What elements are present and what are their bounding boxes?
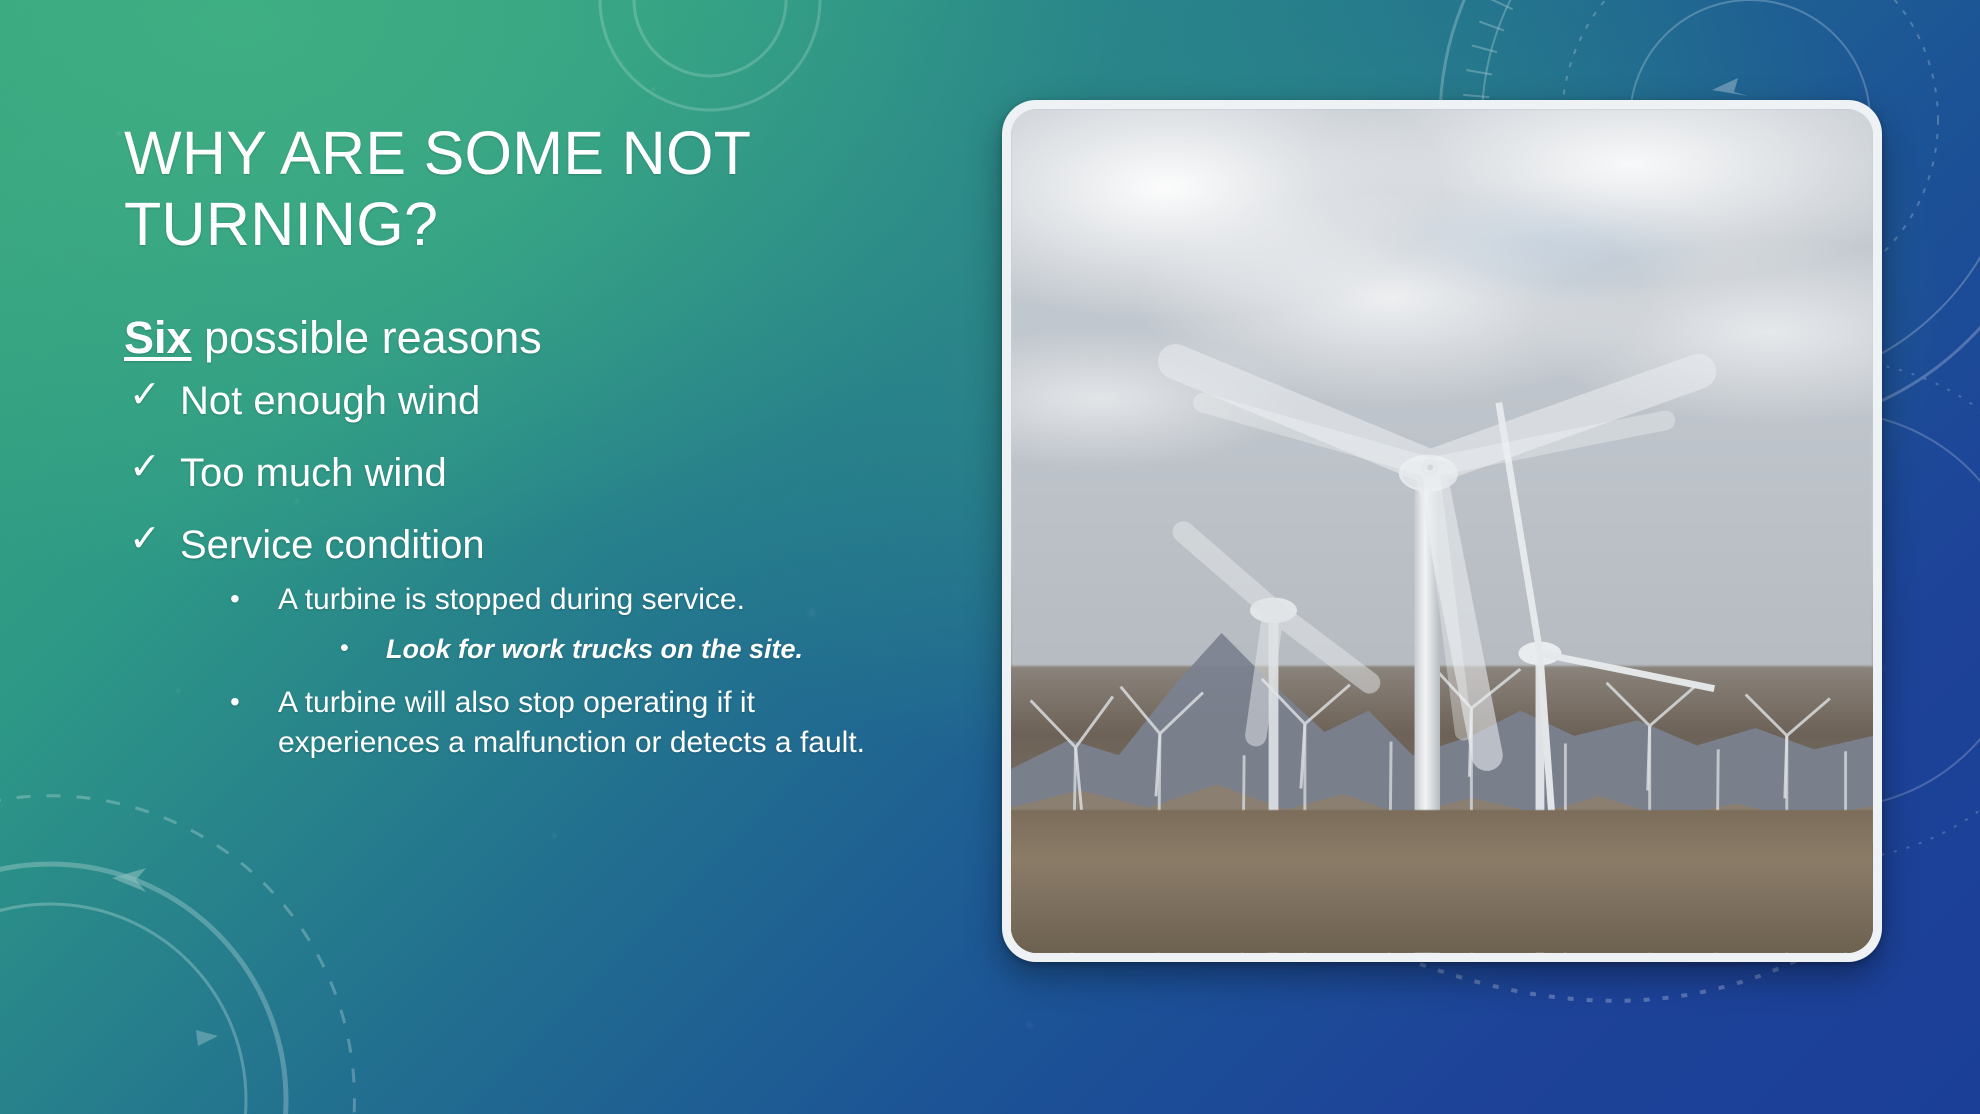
bullet-dot-icon: • [340, 632, 349, 665]
lead-emphasis: Six [124, 312, 192, 363]
compass-pointer-icon [1712, 78, 1748, 96]
nested-note-list: • Look for work trucks on the site. [278, 632, 894, 667]
list-item-not-enough-wind: ✓ Not enough wind [124, 380, 894, 422]
checkmark-icon: ✓ [129, 520, 161, 558]
list-item-too-much-wind: ✓ Too much wind [124, 452, 894, 494]
bullet-dot-icon: • [230, 684, 240, 720]
nested-bullet-text: Look for work trucks on the site. [386, 634, 803, 664]
checkmark-icon: ✓ [129, 376, 161, 414]
lead-line: Six possible reasons [124, 313, 894, 363]
list-item-turbine-malfunction-fault: • A turbine will also stop operating if … [180, 683, 894, 763]
service-condition-sub-bullets: • A turbine is stopped during service. •… [180, 580, 894, 763]
list-item-label: Not enough wind [180, 379, 480, 423]
list-item-service-condition: ✓ Service condition • A turbine is stopp… [124, 524, 894, 763]
arrow-head-icon-small [196, 1030, 218, 1046]
sub-bullet-text: A turbine is stopped during service. [278, 583, 745, 616]
arrow-head-icon-left [112, 868, 146, 892]
sub-bullet-text: A turbine will also stop operating if it… [278, 686, 865, 759]
list-item-look-for-work-trucks: • Look for work trucks on the site. [278, 632, 894, 667]
presentation-slide: 190 200 210 [0, 0, 1980, 1114]
photo-frame [1002, 100, 1882, 962]
lead-rest: possible reasons [192, 312, 542, 363]
bullet-dot-icon: • [230, 581, 240, 617]
photo-ground [1011, 810, 1873, 953]
list-item-label: Too much wind [180, 451, 447, 495]
list-item-turbine-stopped-during-service: • A turbine is stopped during service. •… [180, 580, 894, 667]
checkmark-icon: ✓ [129, 448, 161, 486]
wind-farm-photo [1011, 109, 1873, 953]
reasons-checklist: ✓ Not enough wind ✓ Too much wind ✓ Serv… [124, 380, 894, 763]
slide-text-content: Why are some not turning? Six possible r… [124, 118, 894, 793]
list-item-label: Service condition [180, 523, 485, 567]
page-title: Why are some not turning? [124, 118, 894, 261]
